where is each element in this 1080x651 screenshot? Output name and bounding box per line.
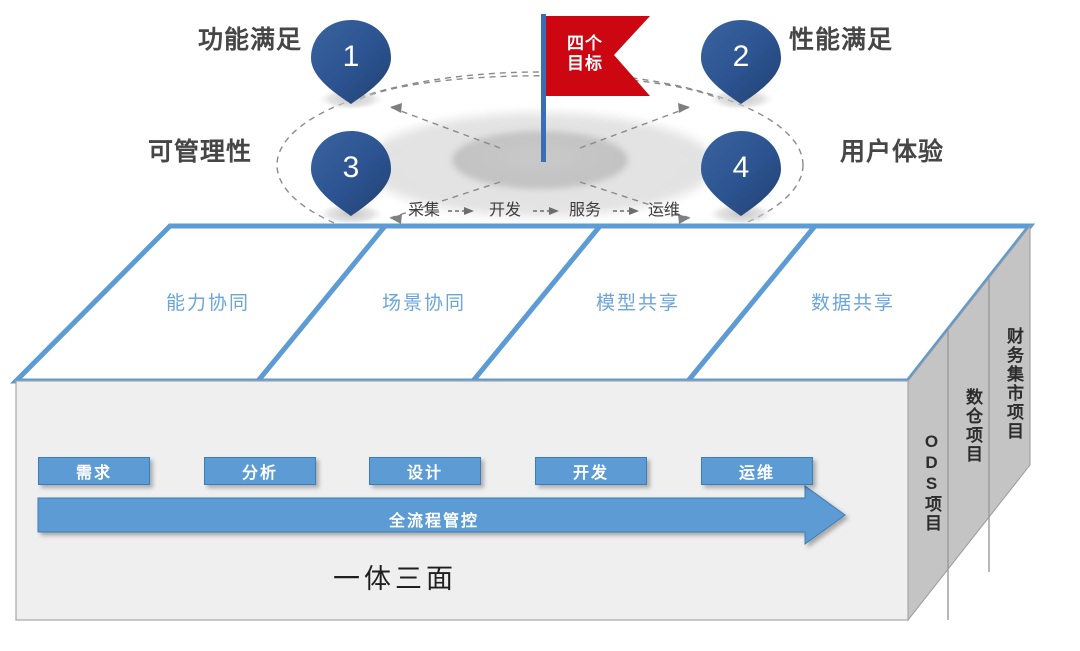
goal-label-performance: 性能满足: [789, 28, 893, 53]
process-button-design[interactable]: 设计: [369, 457, 481, 485]
process-button-analysis[interactable]: 分析: [204, 457, 316, 485]
side-panel-label-finance-mart[interactable]: 财务集市项目: [1001, 327, 1026, 441]
slab-label-capability-collab[interactable]: 能力协同: [166, 294, 250, 313]
goal-pin-1-number: 1: [328, 40, 374, 74]
chain-step-collect: 采集: [408, 203, 440, 219]
slab-label-model-sharing[interactable]: 模型共享: [596, 294, 680, 313]
goal-label-functional: 功能满足: [198, 28, 302, 53]
side-panel-label-ods[interactable]: ODS项目: [919, 432, 944, 533]
goal-label-user-experience: 用户体验: [840, 140, 944, 165]
diagram-bottom-title: 一体三面: [333, 557, 457, 596]
diagram-vector-layer: [0, 0, 1080, 651]
chain-step-develop: 开发: [489, 203, 521, 219]
slab-label-scenario-collab[interactable]: 场景协同: [382, 294, 466, 313]
process-button-development[interactable]: 开发: [535, 457, 647, 485]
goal-pin-3-number: 3: [328, 151, 374, 185]
flag-label-line2: 目标: [563, 54, 607, 74]
goal-label-manageability: 可管理性: [148, 140, 252, 165]
chain-step-service: 服务: [569, 203, 601, 219]
goal-pin-2-number: 2: [718, 40, 764, 74]
flag-label: 四个 目标: [563, 34, 607, 74]
chain-step-ops: 运维: [648, 203, 680, 219]
slab-label-data-sharing[interactable]: 数据共享: [811, 294, 895, 313]
diagram-canvas: 1 2 3 4 功能满足 性能满足 可管理性 用户体验 四个 目标 采集 开发 …: [0, 0, 1080, 651]
process-button-requirement[interactable]: 需求: [38, 457, 150, 485]
side-panel-label-warehouse[interactable]: 数仓项目: [960, 388, 985, 464]
process-button-operations[interactable]: 运维: [701, 457, 813, 485]
flag-label-line1: 四个: [563, 34, 607, 54]
full-process-arrow-label: 全流程管控: [389, 507, 479, 531]
goal-pin-4-number: 4: [718, 151, 764, 185]
